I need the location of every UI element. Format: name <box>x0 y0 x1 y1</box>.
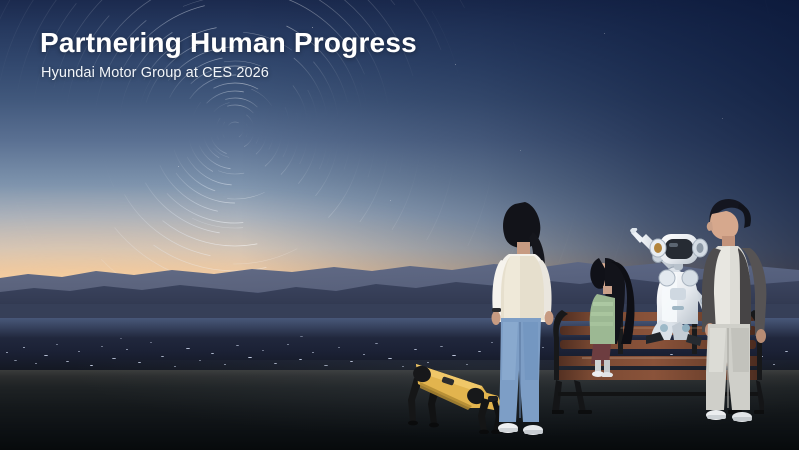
page-title: Partnering Human Progress <box>40 27 417 59</box>
man-standing <box>694 196 782 426</box>
page-subtitle: Hyundai Motor Group at CES 2026 <box>41 65 269 81</box>
woman-standing <box>487 198 573 440</box>
key-visual-stage: Partnering Human Progress Hyundai Motor … <box>0 0 799 450</box>
